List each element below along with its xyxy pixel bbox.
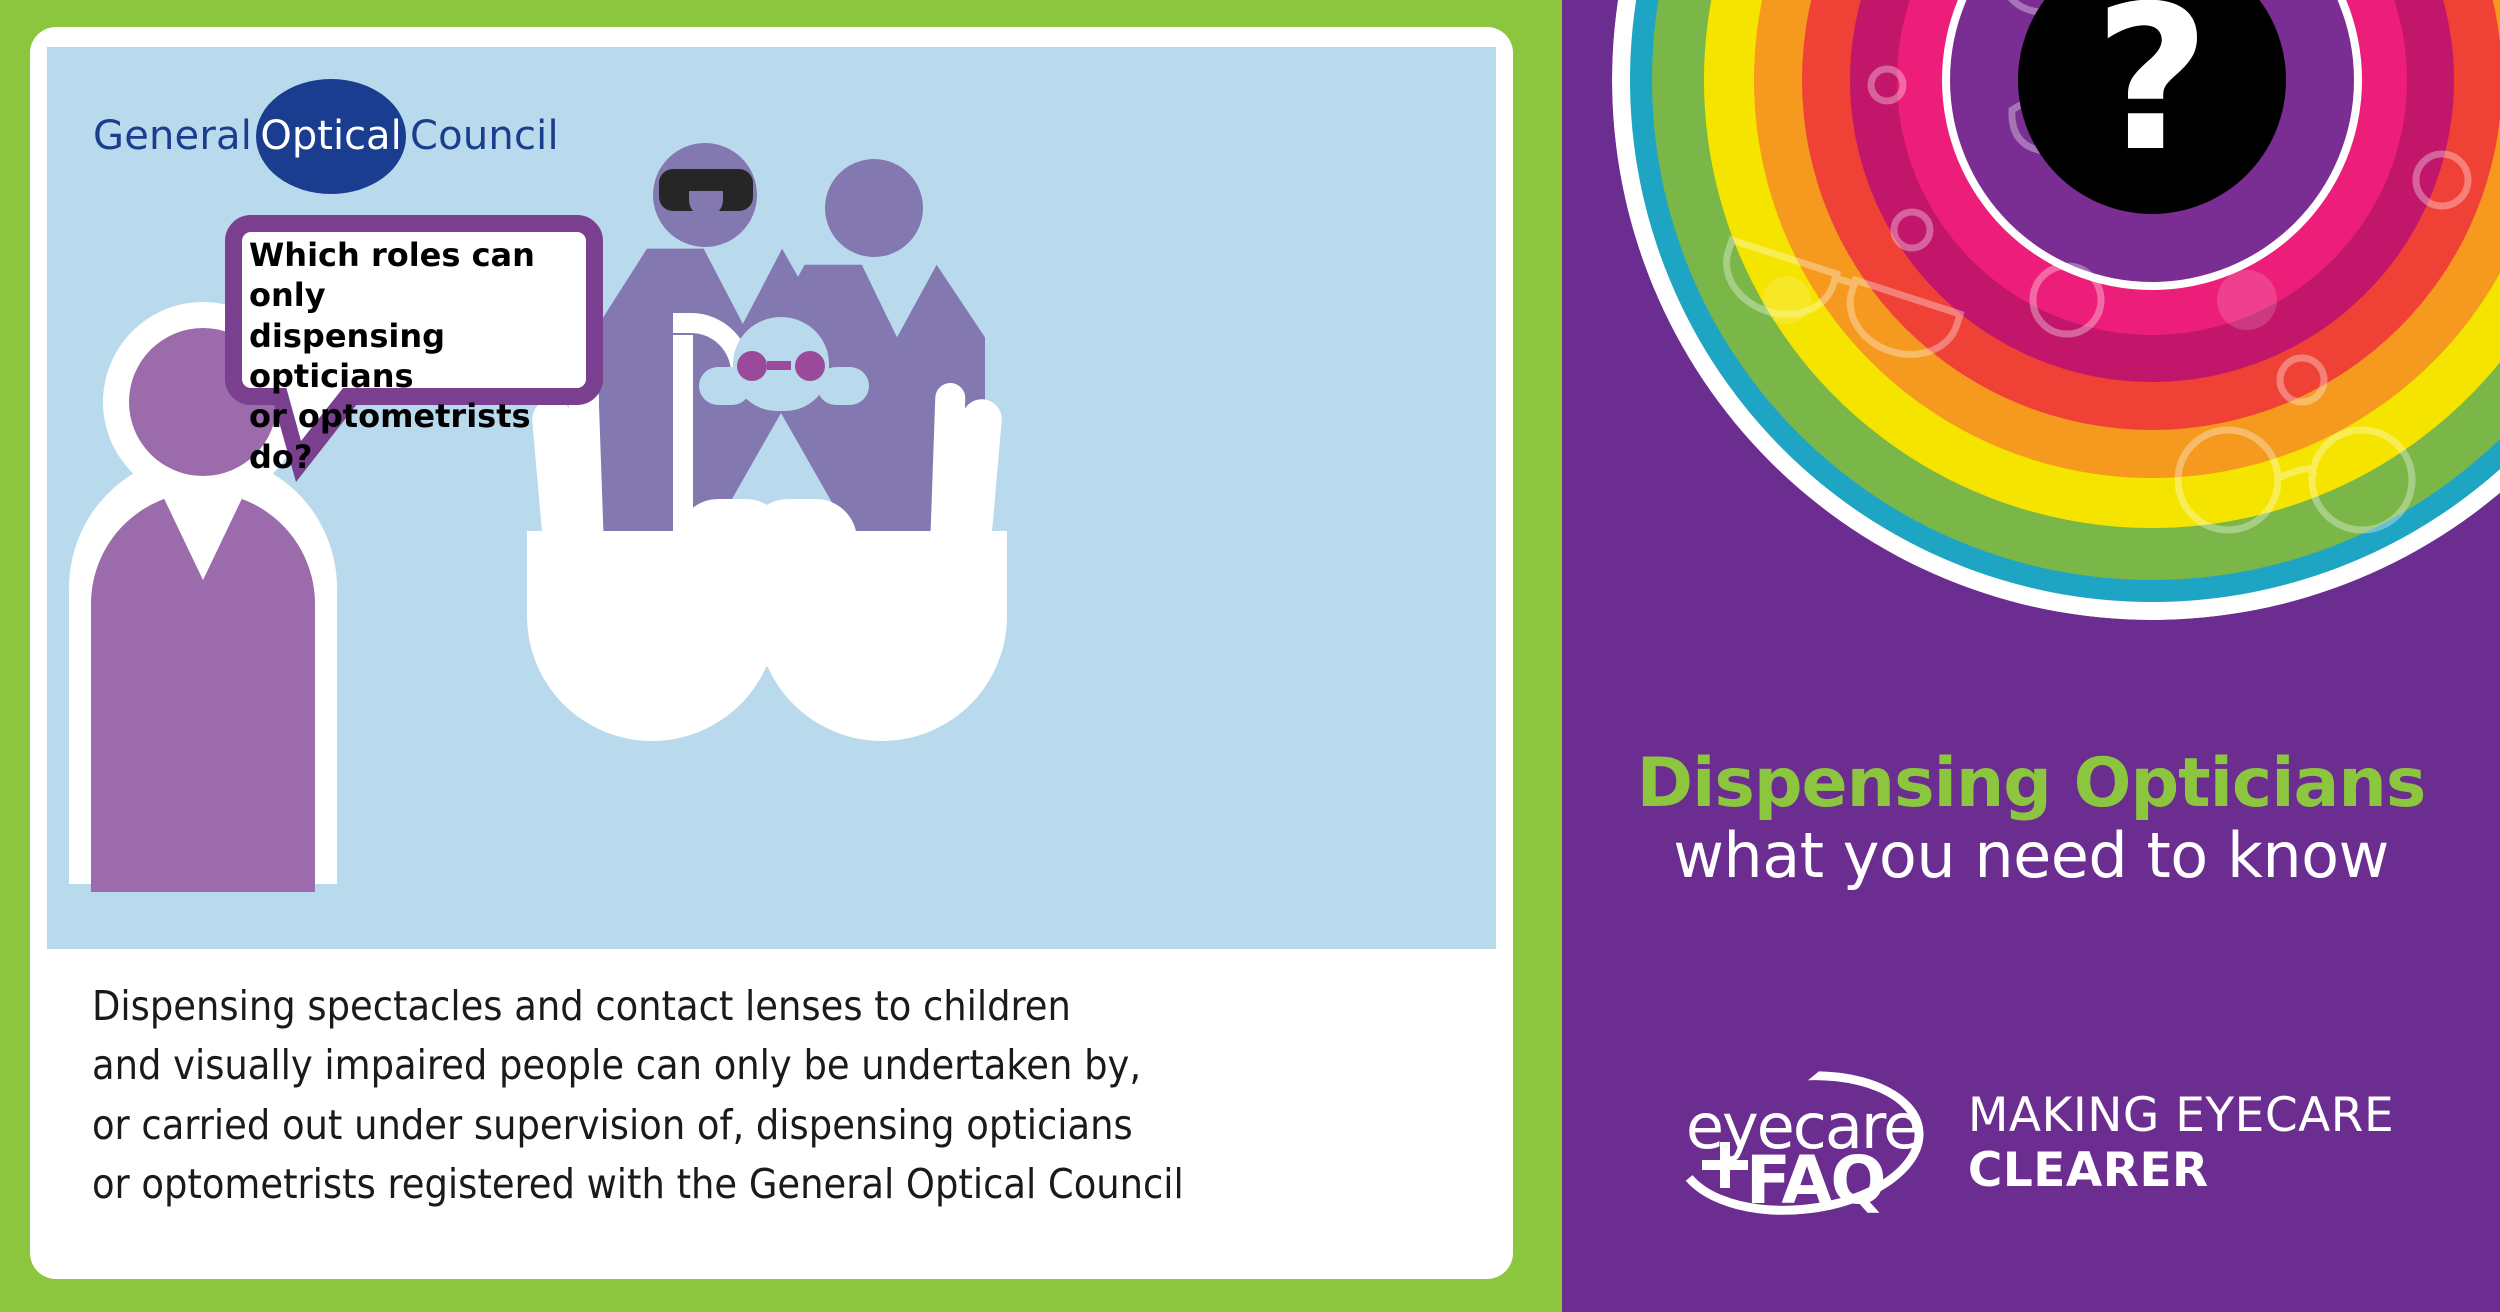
bubble-line-3: or optometrists do? [249, 396, 601, 477]
left-panel: General Optical Council [0, 0, 1550, 1312]
brand-block: eyecare FAQ MAKING EYECARE CLEARER [1562, 1068, 2500, 1218]
bubble-line-2: dispensing opticians [249, 316, 601, 397]
caption-line-4: or optometrists registered with the Gene… [92, 1155, 1492, 1214]
caption-line-2: and visually impaired people can only be… [92, 1036, 1492, 1095]
eyecare-faq-logo: eyecare FAQ [1668, 1068, 1928, 1218]
child-glasses-left-lens [737, 351, 767, 381]
speech-bubble: Which roles can only dispensing optician… [225, 215, 615, 430]
general-optical-council-logo: General Optical Council [93, 97, 559, 175]
logo-word-council: Council [410, 113, 559, 159]
question-mark-glyph: ? [2094, 0, 2210, 180]
title-block: Dispensing Opticians what you need to kn… [1562, 748, 2500, 888]
adult-head-right [825, 159, 923, 257]
logo-word-general: General [93, 113, 252, 159]
title-main: Dispensing Opticians [1562, 748, 2500, 819]
logo-word-optical: Optical [260, 113, 401, 159]
right-panel: ? Dispensing Opticians what you need to … [1562, 0, 2500, 1312]
logo-oval: Optical [256, 79, 406, 194]
caption-line-1: Dispensing spectacles and contact lenses… [92, 977, 1492, 1036]
brand-tagline: MAKING EYECARE CLEARER [1968, 1088, 2394, 1198]
title-subtitle: what you need to know [1562, 823, 2500, 888]
speech-bubble-text: Which roles can only dispensing optician… [249, 235, 601, 477]
thumb [747, 499, 857, 679]
tagline-line-1: MAKING EYECARE [1968, 1088, 2394, 1143]
tagline-line-2: CLEARER [1968, 1143, 2394, 1198]
rainbow-rings-graphic: ? [1612, 0, 2500, 620]
illustration-area: General Optical Council [47, 47, 1496, 949]
finger [930, 383, 966, 544]
info-card: General Optical Council [30, 27, 1513, 1279]
caption-text: Dispensing spectacles and contact lenses… [92, 977, 1492, 1215]
logo-text-faq: FAQ [1746, 1142, 1885, 1219]
child-glasses-bridge [767, 361, 791, 370]
poster-root: General Optical Council [0, 0, 2500, 1312]
child-glasses-right-lens [795, 351, 825, 381]
bubble-line-1: Which roles can only [249, 235, 601, 316]
caption-line-3: or carried out under supervision of, dis… [92, 1096, 1492, 1155]
plus-icon-vertical [1720, 1142, 1730, 1188]
